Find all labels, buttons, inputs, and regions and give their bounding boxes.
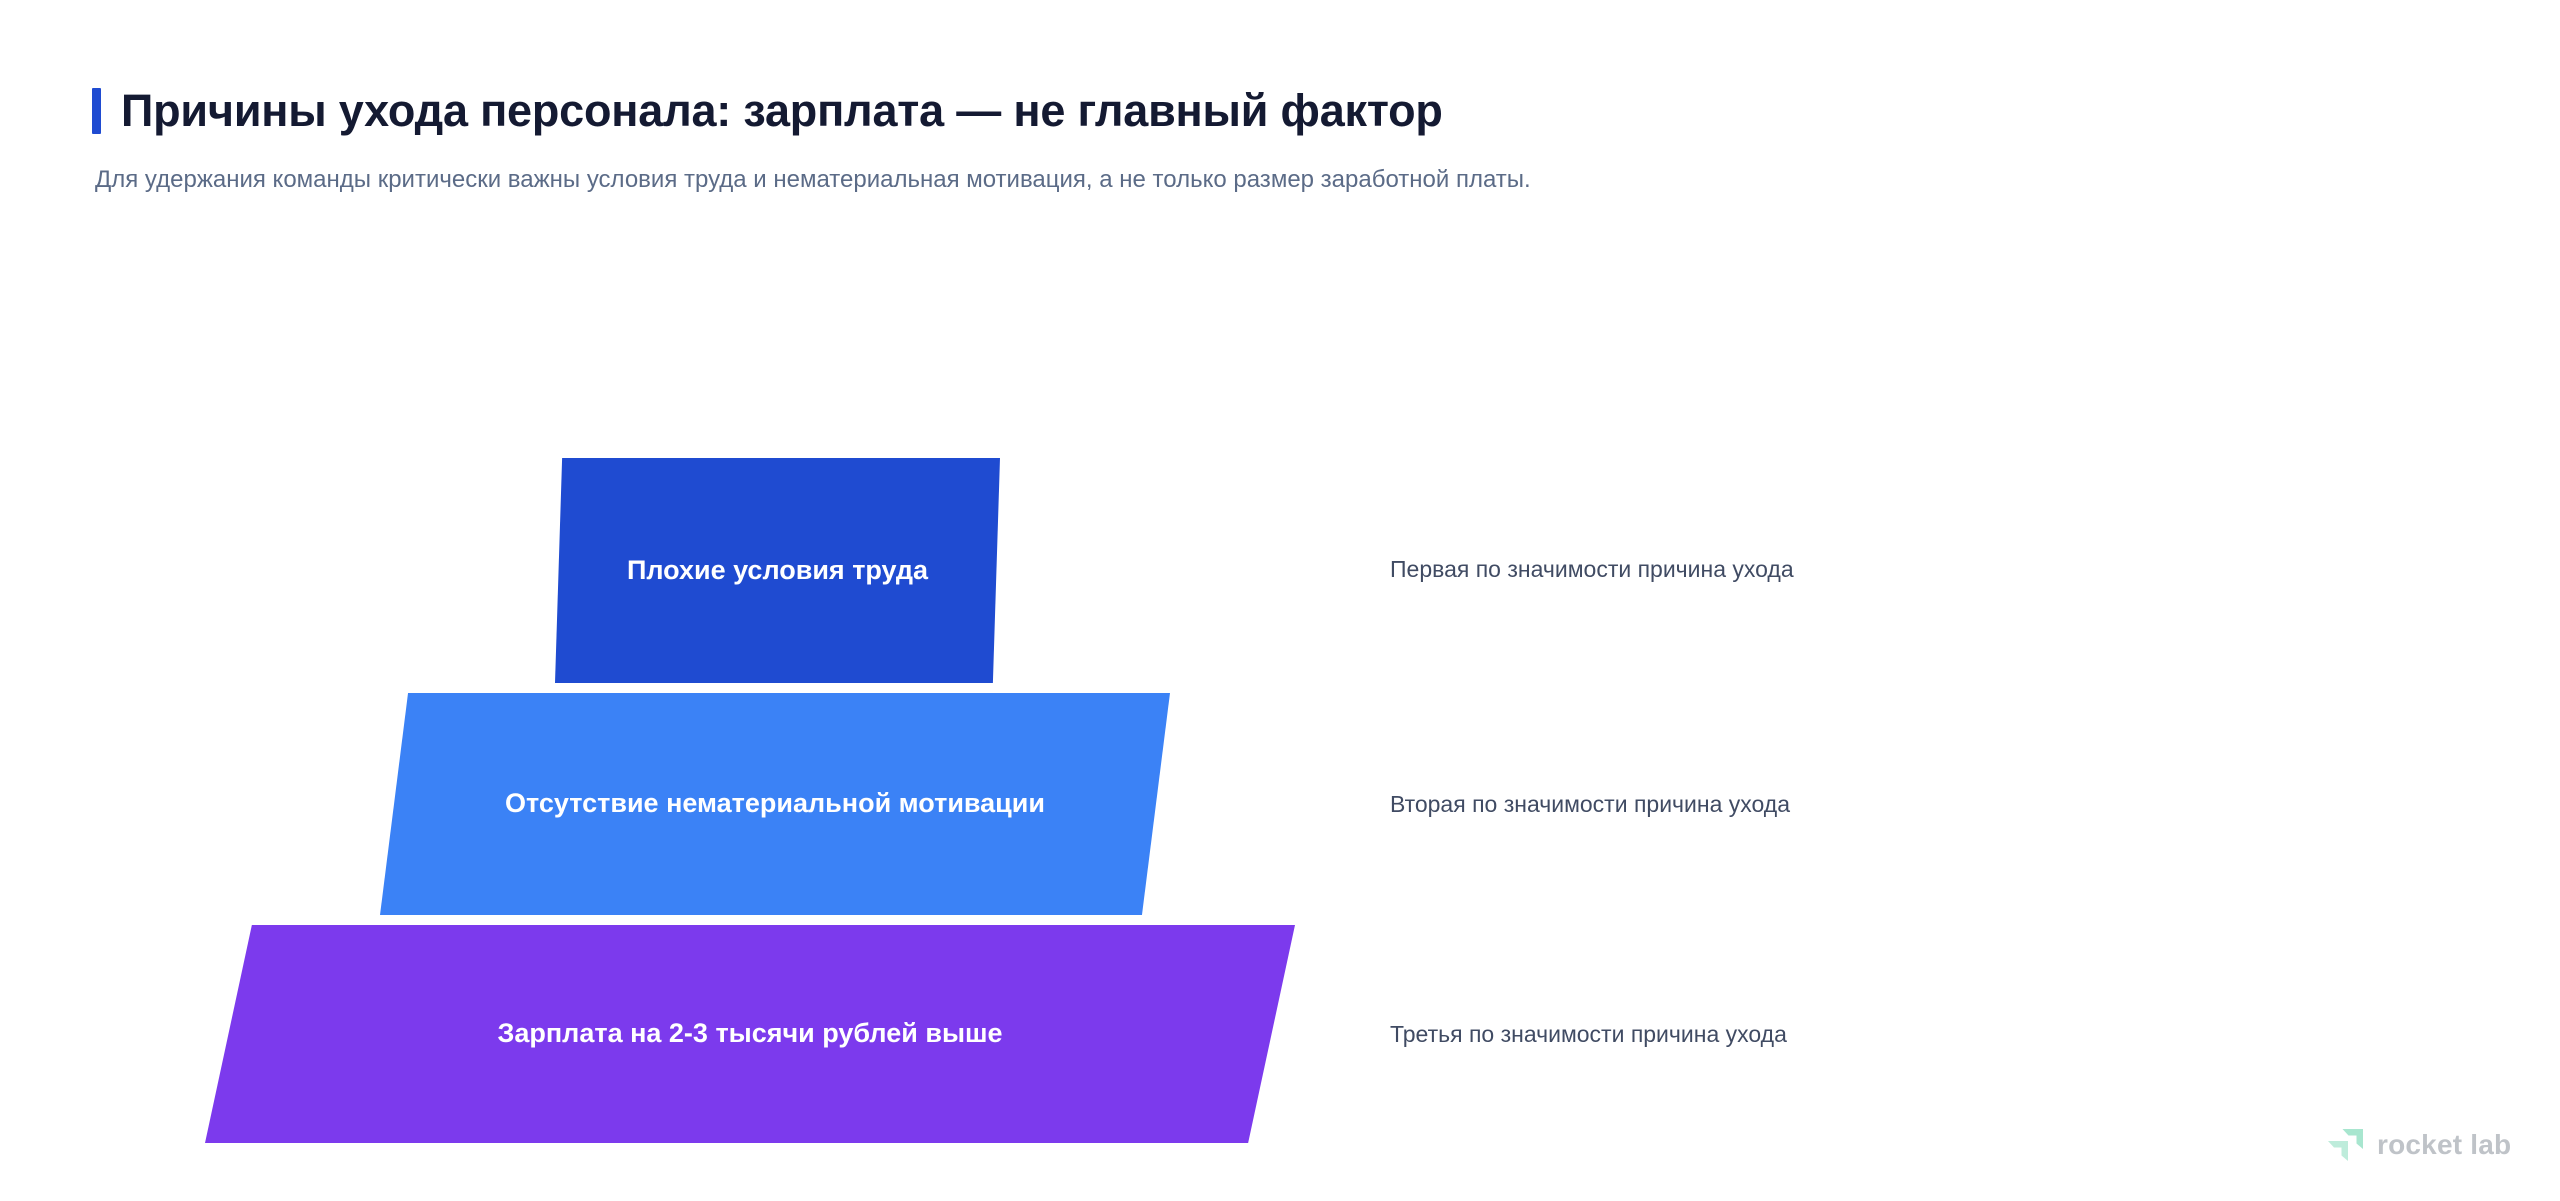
rocket-lab-logo: rocket lab [2326,1126,2511,1164]
pyramid-tier-3[interactable]: Зарплата на 2-3 тысячи рублей выше [205,925,1295,1143]
pyramid-tier-2-label: Отсутствие нематериальной мотивации [475,786,1075,821]
rocket-lab-arrow-icon [2326,1126,2366,1164]
pyramid-tier-1-description: Первая по значимости причина ухода [1390,556,1794,584]
pyramid-tier-2[interactable]: Отсутствие нематериальной мотивации [380,693,1170,915]
pyramid-tier-3-description: Третья по значимости причина ухода [1390,1021,1787,1049]
pyramid-tier-1-label: Плохие условия труда [613,553,943,588]
pyramid-chart: Плохие условия труда Отсутствие нематери… [0,0,2560,1201]
pyramid-tier-1[interactable]: Плохие условия труда [555,458,1000,683]
pyramid-tier-3-label: Зарплата на 2-3 тысячи рублей выше [300,1016,1200,1051]
pyramid-tier-2-description: Вторая по значимости причина ухода [1390,791,1790,819]
rocket-lab-logo-text: rocket lab [2377,1131,2511,1159]
